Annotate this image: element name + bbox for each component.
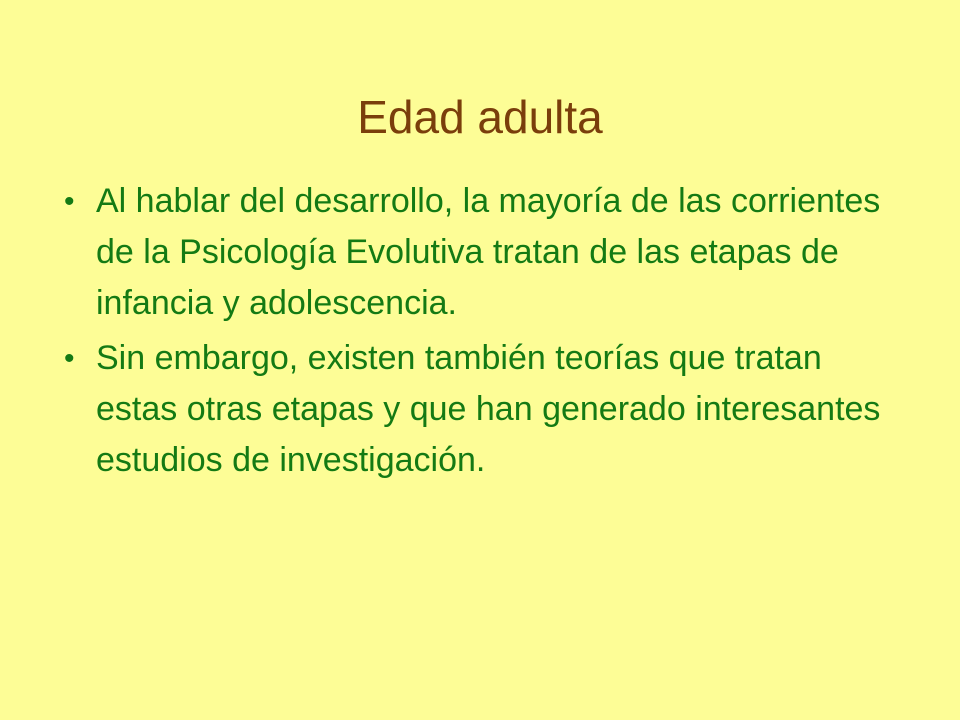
list-item: • Sin embargo, existen también teorías q… <box>60 333 910 486</box>
list-item: • Al hablar del desarrollo, la mayoría d… <box>60 176 910 329</box>
slide-canvas: Edad adulta • Al hablar del desarrollo, … <box>0 0 960 720</box>
list-item-label: Al hablar del desarrollo, la mayoría de … <box>96 176 910 329</box>
bullet-icon: • <box>64 333 86 384</box>
bullet-icon: • <box>64 176 86 227</box>
page-title: Edad adulta <box>0 93 960 141</box>
list-item-label: Sin embargo, existen también teorías que… <box>96 333 910 486</box>
slide-body-content: • Al hablar del desarrollo, la mayoría d… <box>60 176 910 490</box>
